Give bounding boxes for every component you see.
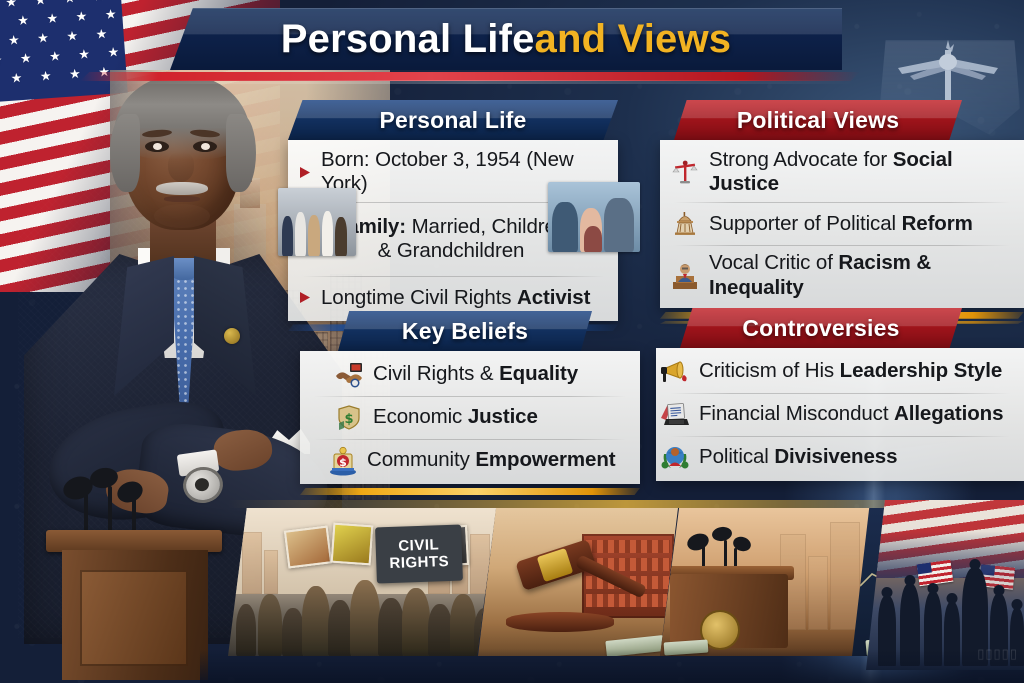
panel-header-personal-life: Personal Life	[288, 100, 618, 140]
chin	[154, 204, 210, 228]
mustache	[156, 182, 208, 195]
list-item[interactable]: Strong Advocate for Social Justice	[660, 142, 1024, 202]
eye-left	[145, 141, 169, 152]
family-photo-thumbnail	[548, 182, 640, 252]
podium-press-conference-photo	[660, 508, 872, 656]
title-underline-highlight	[95, 80, 855, 84]
title-banner: Personal Life and Views	[170, 8, 842, 70]
handshake-icon	[334, 360, 364, 390]
panel-body-key-beliefs: Civil Rights & Equality $ Economic Justi…	[300, 351, 640, 484]
globe-emblem-icon	[660, 443, 690, 473]
panel-accent-bar	[300, 488, 640, 495]
sign-line-1: CIVIL	[398, 536, 439, 554]
panel-key-beliefs: Key Beliefs Civil Rights & Equality	[300, 311, 640, 495]
scales-of-justice-icon	[670, 157, 700, 187]
list-item[interactable]: Supporter of Political Reform	[660, 202, 1024, 245]
rally-poster-1	[284, 525, 332, 568]
hair-left-side	[110, 114, 140, 192]
handheld-flag-1	[917, 560, 954, 587]
speaker-at-podium-icon	[670, 261, 700, 291]
lapel-pin-icon	[224, 328, 240, 344]
money-shield-icon: $	[334, 403, 364, 433]
wooden-podium	[46, 530, 222, 680]
triangle-right-icon	[298, 165, 312, 180]
civil-rights-rally-photo: CIVIL RIGHTS	[228, 508, 496, 656]
panel-title: Political Views	[737, 107, 899, 134]
microphones-icon	[56, 442, 226, 538]
group-photo-thumbnail	[278, 188, 356, 256]
svg-text:$: $	[339, 456, 347, 469]
necktie-knot	[170, 258, 198, 280]
list-item-label: Strong Advocate for Social Justice	[709, 148, 1010, 196]
page-title-part1: Personal Life	[281, 17, 535, 62]
list-item-label: Family: Married, Children & Grandchildre…	[335, 215, 567, 263]
list-item-label: Political Divisiveness	[699, 445, 897, 469]
bottom-vignette	[200, 649, 1024, 683]
list-item[interactable]: $ Community Empowerment	[300, 439, 640, 482]
community-emblem-icon: $	[328, 446, 358, 476]
mouth	[164, 196, 200, 202]
panel-title: Personal Life	[379, 107, 526, 134]
panel-body-controversies: Criticism of His Leadership Style	[656, 348, 1024, 481]
list-item-label: Criticism of His Leadership Style	[699, 359, 1002, 383]
laptop-document-icon	[660, 400, 690, 430]
rally-poster-2	[331, 523, 374, 566]
capitol-building-icon	[670, 209, 700, 239]
panel-controversies: Controversies Criticism of His Leadershi…	[656, 308, 1024, 481]
panel-header-political-views: Political Views	[674, 100, 962, 140]
gavel-sound-block	[506, 612, 614, 632]
list-item-label: Vocal Critic of Racism & Inequality	[709, 251, 1010, 299]
panel-title: Key Beliefs	[402, 318, 528, 345]
megaphone-icon	[660, 357, 690, 387]
podium-top	[46, 530, 222, 552]
list-item-label: Community Empowerment	[367, 448, 616, 472]
panel-political-views: Political Views Strong Advocate for Soci…	[660, 100, 1024, 324]
list-item[interactable]: Political Divisiveness	[656, 436, 1024, 479]
list-item-label: Financial Misconduct Allegations	[699, 402, 1003, 426]
list-item-label: Civil Rights & Equality	[373, 362, 578, 386]
gavel-courthouse-photo	[478, 508, 678, 656]
hair-right-side	[226, 114, 256, 192]
page-title: Personal Life and Views	[170, 8, 842, 70]
list-item-label: Economic Justice	[373, 405, 538, 429]
list-item-label: Longtime Civil Rights Activist	[321, 286, 590, 310]
list-item[interactable]: Financial Misconduct Allegations	[656, 393, 1024, 436]
crowd-silhouette-flag-photo: ▯▯▯▯▯	[866, 500, 1024, 670]
list-item-label: Supporter of Political Reform	[709, 212, 973, 236]
list-item[interactable]: Criticism of His Leadership Style	[656, 350, 1024, 393]
triangle-right-icon	[298, 290, 312, 305]
panel-body-political-views: Strong Advocate for Social Justice	[660, 140, 1024, 308]
list-item[interactable]: $ Economic Justice	[300, 396, 640, 439]
list-item[interactable]: Civil Rights & Equality	[300, 353, 640, 396]
svg-text:$: $	[344, 412, 353, 427]
list-item[interactable]: Vocal Critic of Racism & Inequality	[660, 245, 1024, 305]
panel-header-controversies: Controversies	[680, 308, 962, 348]
rally-crowd	[228, 564, 496, 656]
eye-right	[193, 141, 217, 152]
infographic-canvas: ★ ★ ★ ★ ★ ★ ★ ★ ★ ★ ★ ★ ★ ★ ★ ★ ★ ★ ★ ★ …	[0, 0, 1024, 683]
panel-title: Controversies	[742, 315, 899, 342]
podium-front-panel	[80, 570, 188, 666]
nose	[168, 152, 194, 182]
page-title-part2: and Views	[535, 17, 732, 62]
panel-header-key-beliefs: Key Beliefs	[338, 311, 592, 351]
list-item-label-line2: & Grandchildren	[378, 239, 525, 262]
